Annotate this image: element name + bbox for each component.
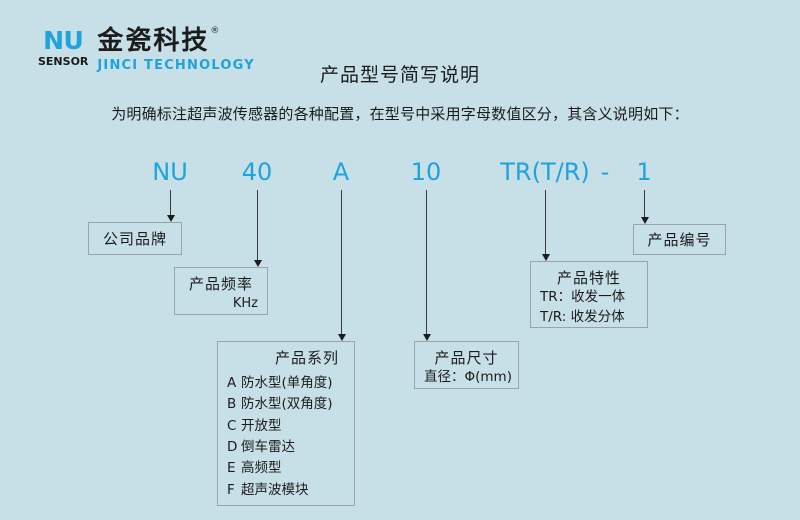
arrow-down-icon: [254, 260, 262, 267]
characteristic-list: TR：收发一体T/R: 收发分体: [540, 288, 638, 327]
series-item-label: 防水型(单角度): [241, 375, 333, 391]
model-code-part: TR(T/R): [500, 158, 589, 186]
connector-brand: [170, 190, 171, 215]
callout-box-series: 产品系列 A防水型(单角度)B防水型(双角度)C开放型D倒车雷达E高频型F超声波…: [217, 341, 355, 506]
connector-frequency: [257, 190, 258, 260]
series-item-key: F: [227, 480, 241, 501]
callout-box-characteristic: 产品特性 TR：收发一体T/R: 收发分体: [530, 261, 648, 328]
characteristic-list-item: TR：收发一体: [540, 288, 638, 308]
series-list: A防水型(单角度)B防水型(双角度)C开放型D倒车雷达E高频型F超声波模块: [227, 373, 345, 501]
series-item-key: D: [227, 437, 241, 458]
arrow-down-icon: [641, 217, 649, 224]
characteristic-list-item: T/R: 收发分体: [540, 308, 638, 328]
model-code-part: NU: [152, 158, 188, 186]
series-list-item: A防水型(单角度): [227, 373, 345, 394]
model-code-part: A: [333, 158, 349, 186]
callout-box-brand: 公司品牌: [88, 222, 182, 255]
connector-number: [644, 190, 645, 217]
arrow-down-icon: [167, 215, 175, 222]
series-list-item: B防水型(双角度): [227, 394, 345, 415]
logo-company-cn: 金瓷科技: [97, 28, 209, 54]
page-subtitle: 为明确标注超声波传感器的各种配置，在型号中采用字母数值区分，其含义说明如下：: [0, 103, 800, 124]
connector-size: [426, 190, 427, 334]
series-item-label: 高频型: [241, 460, 282, 476]
connector-series: [341, 190, 342, 334]
series-list-item: C开放型: [227, 416, 345, 437]
series-list-item: E高频型: [227, 458, 345, 479]
series-item-label: 超声波模块: [241, 482, 309, 498]
arrow-down-icon: [542, 254, 550, 261]
callout-series-title: 产品系列: [227, 347, 345, 368]
series-item-key: E: [227, 458, 241, 479]
callout-frequency-title: 产品频率: [184, 273, 258, 294]
registered-trademark-icon: ®: [210, 27, 219, 36]
callout-box-frequency: 产品频率 KHz: [174, 267, 268, 315]
series-list-item: F超声波模块: [227, 480, 345, 501]
callout-size-detail: 直径：Φ(mm): [424, 368, 509, 388]
callout-characteristic-title: 产品特性: [540, 267, 638, 288]
callout-brand-title: 公司品牌: [103, 228, 167, 249]
model-code-part: -: [601, 158, 610, 186]
model-code-part: 1: [636, 158, 651, 186]
callout-frequency-unit: KHz: [184, 296, 258, 311]
model-code-part: 10: [411, 158, 442, 186]
arrow-down-icon: [338, 334, 346, 341]
callout-box-number: 产品编号: [633, 224, 726, 255]
series-item-label: 倒车雷达: [241, 439, 295, 455]
series-item-key: B: [227, 394, 241, 415]
arrow-down-icon: [423, 334, 431, 341]
page-title: 产品型号简写说明: [0, 60, 800, 87]
connector-characteristic: [545, 190, 546, 254]
callout-size-title: 产品尺寸: [424, 347, 509, 368]
logo-mark-text: NU: [43, 28, 83, 53]
series-item-key: C: [227, 416, 241, 437]
series-item-key: A: [227, 373, 241, 394]
callout-box-size: 产品尺寸 直径：Φ(mm): [414, 341, 519, 389]
series-list-item: D倒车雷达: [227, 437, 345, 458]
series-item-label: 防水型(双角度): [241, 396, 333, 412]
callout-number-title: 产品编号: [647, 229, 711, 250]
model-code-part: 40: [242, 158, 273, 186]
diagram-canvas: NU SENSOR 金瓷科技 ® JINCI TECHNOLOGY 产品型号简写…: [0, 0, 800, 520]
series-item-label: 开放型: [241, 418, 282, 434]
logo-company-cn-row: 金瓷科技 ®: [97, 28, 254, 54]
